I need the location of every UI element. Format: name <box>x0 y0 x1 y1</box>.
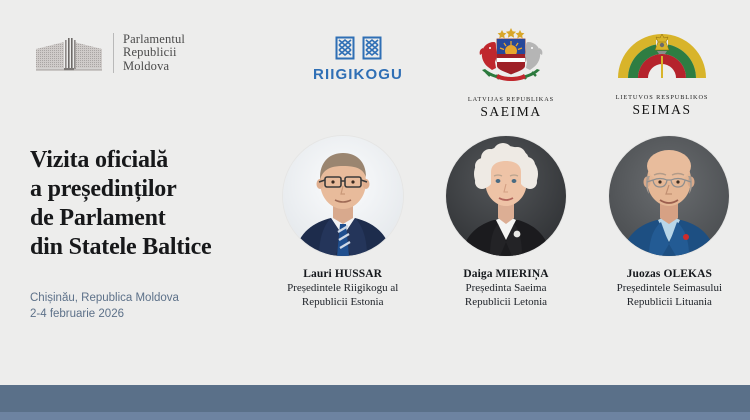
event-announcement-poster: Parlamentul Republicii Moldova RIIGIKOGU <box>0 0 750 420</box>
portrait-lauri-hussar <box>283 136 403 256</box>
event-location-date: Chișinău, Republica Moldova 2-4 februari… <box>30 290 265 322</box>
seimas-logo-subtext: LIETUVOS RESPUBLIKOS <box>592 94 732 101</box>
footer-accent-bar <box>0 412 750 420</box>
headline-block: Vizita oficială a președinților de Parla… <box>30 146 265 322</box>
list-item: Juozas OLEKAS Președintele Seimasului Re… <box>589 136 750 309</box>
footer-bar <box>0 385 750 412</box>
portrait-juozas-olekas <box>609 136 729 256</box>
moldova-parliament-building-icon <box>34 32 104 74</box>
moldova-logo-text: Parlamentul Republicii Moldova <box>123 33 185 74</box>
riigikogu-logo-text: RIIGIKOGU <box>303 66 413 83</box>
parliament-of-moldova-logo: Parlamentul Republicii Moldova <box>34 32 185 74</box>
portrait-daiga-mierina <box>446 136 566 256</box>
riigikogu-emblem-icon <box>303 36 413 60</box>
person-name: Daiga MIERIŅA <box>463 268 548 280</box>
saeima-logo-text: SAEIMA <box>452 104 570 120</box>
seimas-logo: LIETUVOS RESPUBLIKOS SEIMAS <box>592 28 732 118</box>
logo-divider <box>113 33 114 73</box>
saeima-logo: LATVIJAS REPUBLIKAS SAEIMA <box>452 26 570 120</box>
lithuanian-seimas-arch-icon <box>592 28 732 91</box>
latvian-coat-of-arms-icon <box>452 26 570 93</box>
person-title: Președintele Seimasului Republicii Litua… <box>617 282 722 309</box>
person-name: Lauri HUSSAR <box>303 268 382 280</box>
speakers-list: Lauri HUSSAR Președintele Riigikogu al R… <box>262 136 750 309</box>
saeima-logo-subtext: LATVIJAS REPUBLIKAS <box>452 96 570 103</box>
list-item: Lauri HUSSAR Președintele Riigikogu al R… <box>262 136 423 309</box>
seimas-logo-text: SEIMAS <box>592 102 732 118</box>
institution-logos-strip: Parlamentul Republicii Moldova RIIGIKOGU <box>0 24 750 104</box>
person-title: Președinta Saeima Republicii Letonia <box>465 282 547 309</box>
person-name: Juozas OLEKAS <box>627 268 712 280</box>
person-title: Președintele Riigikogu al Republicii Est… <box>287 282 398 309</box>
page-title: Vizita oficială a președinților de Parla… <box>30 146 265 262</box>
riigikogu-logo: RIIGIKOGU <box>303 36 413 83</box>
list-item: Daiga MIERIŅA Președinta Saeima Republic… <box>425 136 586 309</box>
